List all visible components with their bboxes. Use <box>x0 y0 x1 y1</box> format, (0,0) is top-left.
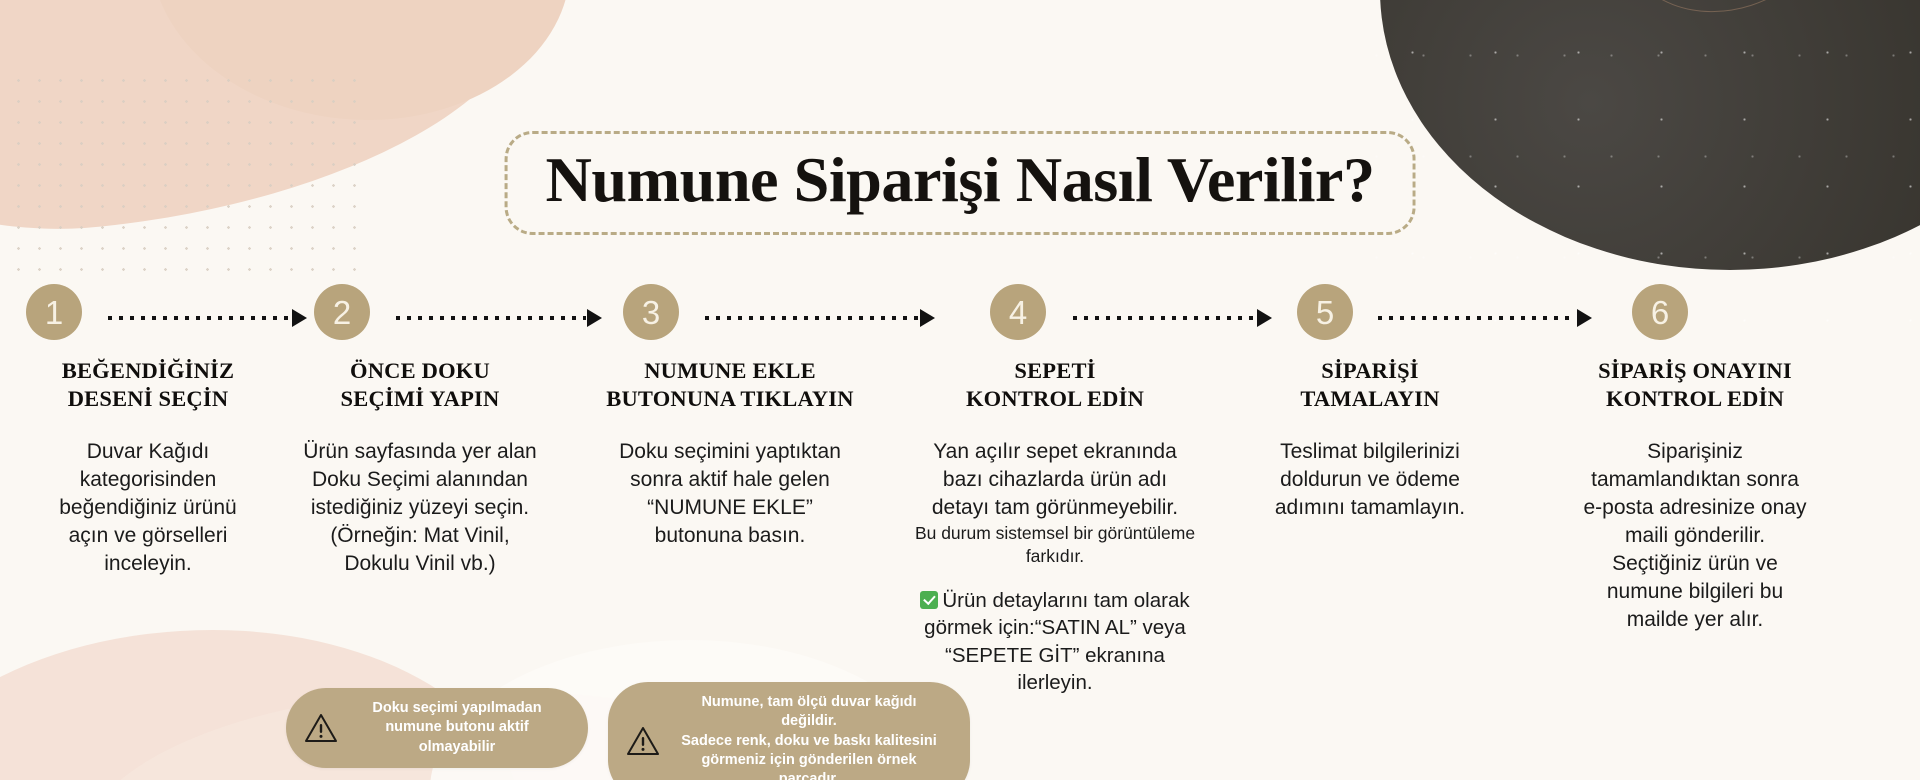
warning-1-line2: numune butonu aktif olmayabilir <box>385 719 528 754</box>
step-1-heading-line1: BEĞENDİĞİNİZ <box>62 358 234 383</box>
step-4-header: 4 <box>910 284 1200 346</box>
step-6: 6 SİPARİŞ ONAYINI KONTROL EDİN Siparişin… <box>1530 284 1860 696</box>
step-2-heading: ÖNCE DOKU SEÇİMİ YAPIN <box>290 357 550 412</box>
step-1-arrow-icon <box>108 312 308 324</box>
step-5-number-badge: 5 <box>1297 284 1353 340</box>
step-6-header: 6 <box>1540 284 1850 346</box>
step-2-header: 2 <box>290 284 550 346</box>
step-2-body: Ürün sayfasında yer alan Doku Seçimi ala… <box>290 438 550 578</box>
step-4-note-bold-1: “SATIN AL” <box>1035 616 1137 639</box>
warning-2-line3: görmeniz için gönderilen örnek parçadır. <box>701 752 916 780</box>
peach-blob-top-left <box>0 0 555 258</box>
step-4-heading-line1: SEPETİ <box>1014 358 1095 383</box>
warning-1-line1: Doku seçimi yapılmadan <box>372 700 541 716</box>
step-4-heading-line2: KONTROL EDİN <box>966 386 1144 411</box>
steps-row: 1 BEĞENDİĞİNİZ DESENİ SEÇİN Duvar Kağıdı… <box>0 284 1920 696</box>
green-check-icon <box>920 591 938 609</box>
step-1-number-badge: 1 <box>26 284 82 340</box>
step-3-heading: NUMUNE EKLE BUTONUNA TIKLAYIN <box>570 357 890 412</box>
star-dots-pattern <box>1360 0 1920 330</box>
step-4-heading: SEPETİ KONTROL EDİN <box>910 357 1200 412</box>
step-1-body: Duvar Kağıdı kategorisinden beğendiğiniz… <box>26 438 270 578</box>
step-4-note-bold-2: “SEPETE GİT” <box>945 644 1079 667</box>
step-6-number-badge: 6 <box>1632 284 1688 340</box>
warning-triangle-icon <box>626 726 660 756</box>
title-frame: Numune Siparişi Nasıl Verilir? <box>505 131 1416 235</box>
step-3-heading-line2: BUTONUNA TIKLAYIN <box>606 386 853 411</box>
step-4-note-mid: veya <box>1137 616 1186 639</box>
warning-pill-texture: Doku seçimi yapılmadan numune butonu akt… <box>286 688 588 768</box>
step-4: 4 SEPETİ KONTROL EDİN Yan açılır sepet e… <box>900 284 1210 696</box>
step-2-heading-line2: SEÇİMİ YAPIN <box>341 386 500 411</box>
step-3-heading-line1: NUMUNE EKLE <box>644 358 816 383</box>
orbit-ring-decoration <box>1599 0 1851 38</box>
step-5-heading: SİPARİŞİ TAMALAYIN <box>1220 357 1520 412</box>
step-4-body-small: Bu durum sistemsel bir görüntüleme farkı… <box>914 522 1196 568</box>
step-1-heading: BEĞENDİĞİNİZ DESENİ SEÇİN <box>26 357 270 412</box>
step-6-body: Siparişiniz tamamlandıktan sonra e-posta… <box>1540 438 1850 633</box>
step-5: 5 SİPARİŞİ TAMALAYIN Teslimat bilgilerin… <box>1210 284 1530 696</box>
step-4-body-main: Yan açılır sepet ekranında bazı cihazlar… <box>932 440 1178 519</box>
dot-grid-pattern <box>8 70 368 280</box>
step-6-heading-line2: KONTROL EDİN <box>1606 386 1784 411</box>
step-5-body: Teslimat bilgilerinizi doldurun ve ödeme… <box>1220 438 1520 522</box>
infographic-canvas: Numune Siparişi Nasıl Verilir? 1 BEĞENDİ… <box>0 0 1920 780</box>
step-3-header: 3 <box>570 284 890 346</box>
step-1: 1 BEĞENDİĞİNİZ DESENİ SEÇİN Duvar Kağıdı… <box>0 284 280 696</box>
step-6-heading-line1: SİPARİŞ ONAYINI <box>1598 358 1792 383</box>
step-4-body: Yan açılır sepet ekranında bazı cihazlar… <box>910 438 1200 567</box>
step-2-body-main: Ürün sayfasında yer alan Doku Seçimi ala… <box>303 440 536 519</box>
step-5-heading-line1: SİPARİŞİ <box>1321 358 1418 383</box>
step-3-number-badge: 3 <box>623 284 679 340</box>
warning-pill-texture-text: Doku seçimi yapılmadan numune butonu akt… <box>350 699 564 757</box>
peach-blob-secondary <box>150 0 570 120</box>
warning-2-line1: Numune, tam ölçü duvar kağıdı değildir. <box>701 694 916 729</box>
step-3: 3 NUMUNE EKLE BUTONUNA TIKLAYIN Doku seç… <box>560 284 900 696</box>
step-4-note: Ürün detaylarını tam olarak görmek için:… <box>910 587 1200 697</box>
step-6-heading: SİPARİŞ ONAYINI KONTROL EDİN <box>1540 357 1850 412</box>
step-1-header: 1 <box>26 284 270 346</box>
step-2-heading-line1: ÖNCE DOKU <box>350 358 490 383</box>
step-5-heading-line2: TAMALAYIN <box>1300 386 1439 411</box>
warning-pill-sample-text: Numune, tam ölçü duvar kağıdı değildir. … <box>672 693 946 780</box>
step-3-body: Doku seçimini yaptıktan sonra aktif hale… <box>570 438 890 550</box>
warning-triangle-icon <box>304 713 338 743</box>
step-2-number-badge: 2 <box>314 284 370 340</box>
step-1-heading-line2: DESENİ SEÇİN <box>68 386 229 411</box>
step-2: 2 ÖNCE DOKU SEÇİMİ YAPIN Ürün sayfasında… <box>280 284 560 696</box>
warning-2-line2: Sadece renk, doku ve baskı kalitesini <box>681 733 937 749</box>
step-4-number-badge: 4 <box>990 284 1046 340</box>
page-title: Numune Siparişi Nasıl Verilir? <box>545 148 1374 212</box>
warning-pill-sample: Numune, tam ölçü duvar kağıdı değildir. … <box>608 682 970 780</box>
step-5-header: 5 <box>1220 284 1520 346</box>
step-2-body-extra: (Örneğin: Mat Vinil, Dokulu Vinil vb.) <box>330 524 509 575</box>
dark-circle-top-right <box>1380 0 1920 270</box>
